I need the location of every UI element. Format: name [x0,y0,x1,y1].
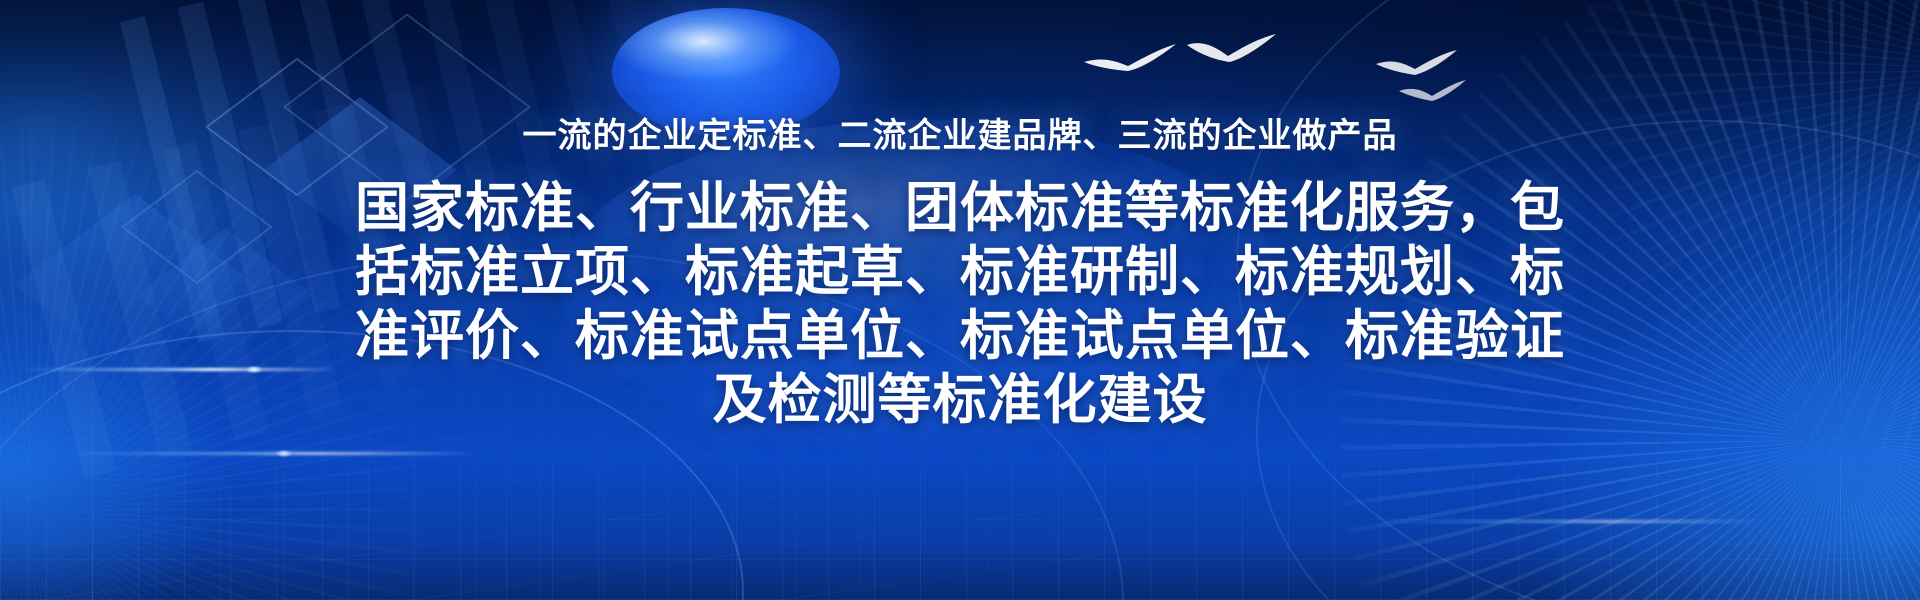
light-streak-lower-icon [60,452,480,455]
light-streak-right-icon [1380,520,1760,523]
seagull-icon [1186,33,1278,65]
light-streak-icon [20,368,340,371]
promo-banner: 一流的企业定标准、二流企业建品牌、三流的企业做产品 国家标准、行业标准、团体标准… [0,0,1920,600]
seagull-icon [1375,48,1459,78]
seagull-icon [1398,78,1468,104]
light-streak-dot-icon [246,366,262,373]
light-streak-lower-dot-icon [276,450,292,457]
glowing-sphere-halo-icon [560,120,1280,450]
glowing-sphere-icon [612,8,840,136]
seagull-icon [1082,40,1178,74]
